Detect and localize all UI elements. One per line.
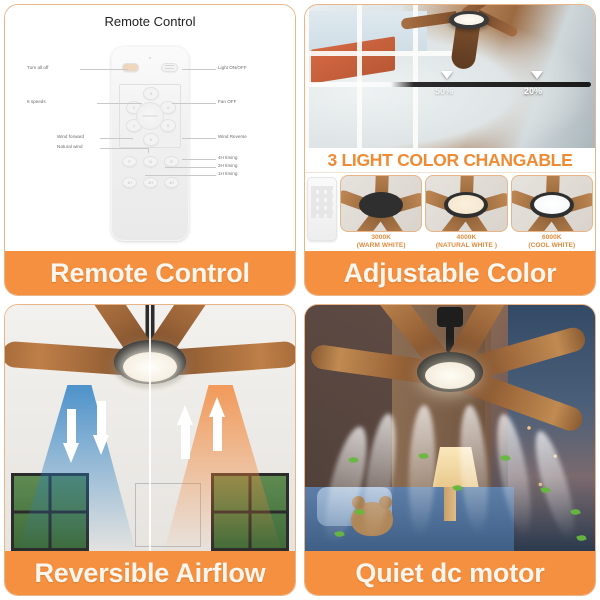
label-turn-all-off: Turn all off [27,65,48,70]
light-lens-4000k [448,195,484,214]
leader-2h [165,167,216,168]
caption-remote-control: Remote Control [5,251,295,295]
kelvin-3000k: 3000K [357,234,406,242]
leader-natural-wind-tick [148,148,149,153]
button-speed-6[interactable]: 6 [143,133,159,146]
color-option-image-3000k [340,175,422,232]
leader-1h [145,175,216,176]
feature-grid: Remote Control 3 4 5 6 1 2 [0,0,600,600]
caption-adjustable-color: Adjustable Color [305,251,595,295]
card-adjustable-color: 50% 20% 3 LIGHT COLOR CHANGABLE [304,4,596,296]
color-option-3000k[interactable]: 3000K (WARM WHITE) [340,175,422,250]
button-natural-wind[interactable]: N [143,156,158,167]
leader-natural-wind [100,148,148,149]
label-4h-timing: 4H timing [218,155,237,160]
arrow-up-icon [209,393,226,451]
label-wind-reverse: Wind Reverse [218,134,247,139]
caption-quiet-dc-motor: Quiet dc motor [305,551,595,595]
button-speed-3[interactable]: 3 [143,87,159,100]
card-reversible-airflow: Reversible Airflow [4,304,296,596]
color-name-4000k: (NATURAL WHITE ) [436,242,497,249]
kelvin-6000k: 6000K [528,234,575,242]
ceiling-fan [305,307,595,417]
fan-light-lens [454,14,484,25]
card-remote-control: Remote Control 3 4 5 6 1 2 [4,4,296,296]
button-fan-off[interactable] [136,102,164,130]
color-option-label-6000k: 6000K (COOL WHITE) [528,234,575,250]
room-scene-photo: 50% 20% [305,5,595,148]
arrow-down-icon [63,409,80,467]
button-wind-reverse[interactable]: R [164,156,179,167]
dimmer-value-secondary: 50% [435,86,453,96]
center-divider [149,305,151,551]
fan-hub [359,192,403,218]
mini-remote-buttons [311,186,333,218]
leader-turn-all-off [80,69,128,70]
dimmer-knob-primary[interactable] [531,71,543,79]
color-option-6000k[interactable]: 6000K (COOL WHITE) [511,175,593,250]
light-lens-3000k [363,195,399,214]
fan-hub [444,192,488,218]
fan-blade [450,24,480,71]
button-timer-2h[interactable]: 2H [143,177,158,188]
remote-device: 3 4 5 6 1 2 F N R 1H 2H 4H [111,46,189,241]
label-6-speeds: 6 speeds [27,99,46,104]
arrow-up-icon [177,401,194,459]
leader-wind-reverse [182,138,216,139]
color-option-label-3000k: 3000K (WARM WHITE) [357,234,406,250]
panel-remote-control: Remote Control 3 4 5 6 1 2 [0,0,300,300]
label-wind-forward: Wind forward [57,134,84,139]
reversible-airflow-body [5,305,295,551]
ceiling-fan-photo [401,5,531,61]
dimmer-slider[interactable]: 50% 20% [305,73,595,95]
card-quiet-dc-motor: Quiet dc motor [304,304,596,596]
label-2h-timing: 2H timing [218,163,237,168]
color-name-3000k: (WARM WHITE) [357,242,406,249]
remote-diagram: Remote Control 3 4 5 6 1 2 [5,5,295,251]
leader-6-speeds [97,103,142,104]
label-1h-timing: 1H timing [218,171,237,176]
color-option-label-4000k: 4000K (NATURAL WHITE ) [436,234,497,250]
mini-remote-thumbnail [307,177,337,241]
ir-emitter-icon [149,57,151,59]
label-fan-off: Fan OFF [218,99,236,104]
arrow-down-icon [93,401,110,459]
light-lens-6000k [534,195,570,214]
quiet-dc-motor-body [305,305,595,551]
airflow-scene [5,305,295,551]
dimmer-value-primary: 20% [524,86,542,96]
color-name-6000k: (COOL WHITE) [528,242,575,249]
caption-reversible-airflow: Reversible Airflow [5,551,295,595]
banner-3-light-color: 3 LIGHT COLOR CHANGABLE [305,148,595,173]
button-turn-all-off[interactable] [122,63,139,72]
panel-quiet-dc-motor: Quiet dc motor [300,300,600,600]
fan-light-lens [425,362,475,389]
panel-adjustable-color: 50% 20% 3 LIGHT COLOR CHANGABLE [300,0,600,300]
button-timer-4h[interactable]: 4H [164,177,179,188]
panel-title-remote: Remote Control [5,5,295,29]
leader-wind-forward [100,138,133,139]
dimmer-knob-secondary[interactable] [441,71,453,79]
adjustable-color-body: 50% 20% 3 LIGHT COLOR CHANGABLE [305,5,595,251]
panel-reversible-airflow: Reversible Airflow [0,300,300,600]
leader-light-on-off [182,69,216,70]
color-option-4000k[interactable]: 4000K (NATURAL WHITE ) [425,175,507,250]
color-option-image-6000k [511,175,593,232]
leader-fan-off [172,103,216,104]
color-option-image-4000k [425,175,507,232]
bedroom-scene [305,305,595,551]
fan-hub [530,192,574,218]
leader-4h [182,159,216,160]
button-wind-forward[interactable]: F [122,156,137,167]
label-natural-wind: Natural wind [57,144,83,149]
button-timer-1h[interactable]: 1H [122,177,137,188]
button-light-on-off[interactable] [161,63,178,72]
color-option-row: 3000K (WARM WHITE) [305,173,595,251]
label-light-on-off: Light ON/OFF [218,65,247,70]
kelvin-4000k: 4000K [436,234,497,242]
